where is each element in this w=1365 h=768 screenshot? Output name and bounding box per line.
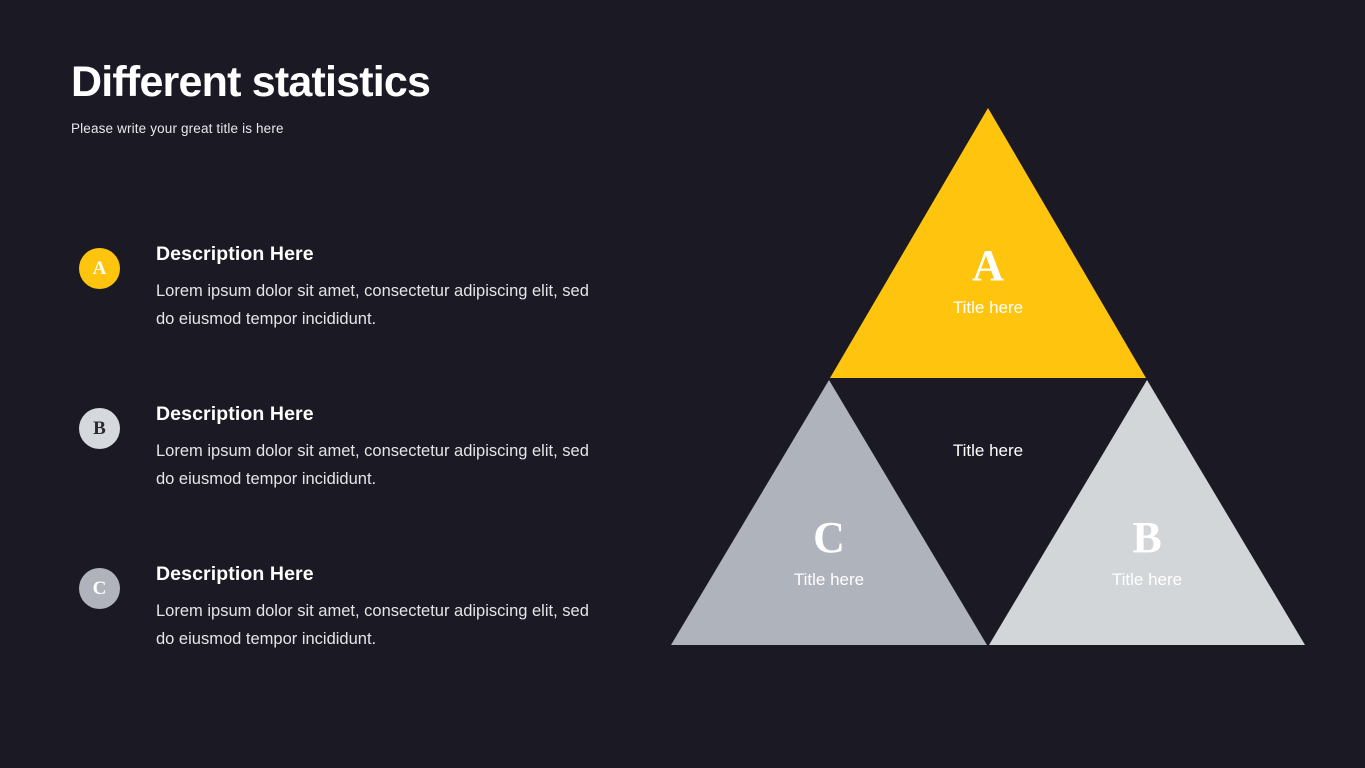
badge-c: C <box>79 568 120 609</box>
triangle-segment-c[interactable]: C Title here <box>671 380 987 645</box>
list-item[interactable]: A Description Here Lorem ipsum dolor sit… <box>71 243 631 347</box>
triangle-caption-c: Title here <box>794 570 864 589</box>
badge-a: A <box>79 248 120 289</box>
list-item[interactable]: B Description Here Lorem ipsum dolor sit… <box>71 403 631 507</box>
badge-b: B <box>79 408 120 449</box>
feature-heading: Description Here <box>156 243 631 266</box>
page-title: Different statistics <box>71 60 631 105</box>
list-item[interactable]: C Description Here Lorem ipsum dolor sit… <box>71 563 631 667</box>
triangle-caption-a: Title here <box>953 298 1023 317</box>
feature-body: Lorem ipsum dolor sit amet, consectetur … <box>156 278 596 333</box>
triangle-caption-b: Title here <box>1112 570 1182 589</box>
page-subtitle: Please write your great title is here <box>71 121 631 136</box>
feature-heading: Description Here <box>156 563 631 586</box>
feature-list: A Description Here Lorem ipsum dolor sit… <box>71 243 631 667</box>
feature-heading: Description Here <box>156 403 631 426</box>
slide-header: Different statistics Please write your g… <box>71 60 631 136</box>
triangle-segment-b[interactable]: B Title here <box>989 380 1305 645</box>
triangle-letter-c: C <box>813 513 845 562</box>
triangle-segment-a[interactable]: A Title here <box>830 108 1146 378</box>
triangle-center-caption: Title here <box>953 441 1023 460</box>
feature-body: Lorem ipsum dolor sit amet, consectetur … <box>156 438 596 493</box>
slide-canvas: Different statistics Please write your g… <box>0 0 1365 768</box>
triangle-letter-b: B <box>1132 513 1161 562</box>
triangle-letter-a: A <box>972 241 1004 290</box>
feature-body: Lorem ipsum dolor sit amet, consectetur … <box>156 598 596 653</box>
triangle-diagram: A Title here C Title here B Title here T… <box>655 95 1325 665</box>
